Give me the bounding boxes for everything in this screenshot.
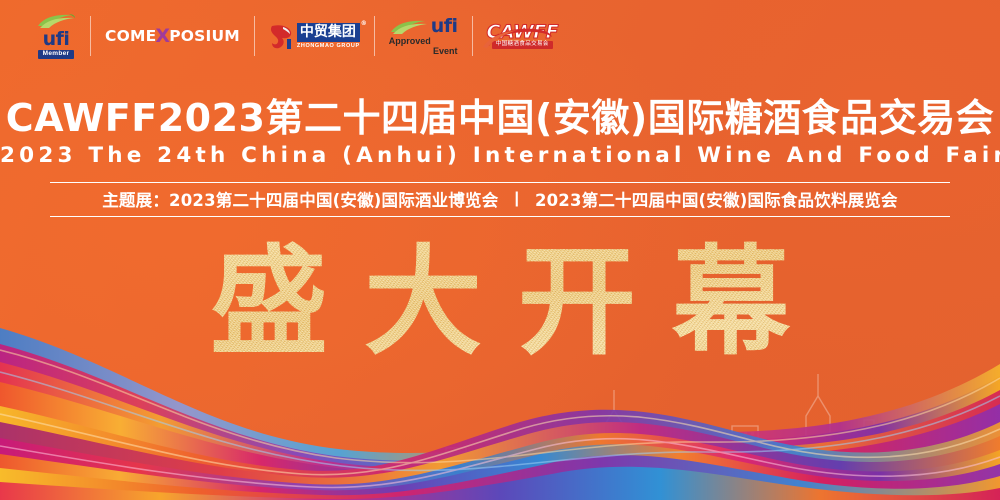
comexposium-part2: POSIUM (169, 27, 240, 45)
ufi-wing-icon (36, 13, 76, 29)
registered-icon: ® (361, 21, 367, 27)
theme-exhibition-2: 2023第二十四届中国(安徽)国际食品饮料展览会 (535, 187, 898, 211)
ufi-approved-line2: Approved (389, 37, 431, 46)
ufi-approved-line3: Event (433, 47, 458, 56)
ufi-member-wordmark: ufi (43, 30, 70, 49)
zhongmao-dragon-icon (269, 23, 294, 50)
event-title-cn: CAWFF2023第二十四届中国(安徽)国际糖酒食品交易会 (0, 96, 1000, 140)
theme-separator: | (514, 190, 518, 208)
zhongmao-en-name: ZHONGMAO GROUP (297, 44, 360, 50)
ufi-approved-wing-icon (389, 19, 429, 35)
theme-exhibitions-bar: 主题展：2023第二十四届中国(安徽)国际酒业博览会 | 2023第二十四届中国… (50, 182, 950, 217)
zhongmao-group-logo: 中贸集团 ® ZHONGMAO GROUP (255, 8, 374, 64)
comexposium-logo: COMEXPOSIUM (91, 8, 254, 64)
logo-bar: ufi Member COMEXPOSIUM 中贸集团 (22, 8, 572, 64)
ufi-member-logo: ufi Member (22, 8, 90, 64)
comexposium-x-accent: X (155, 25, 170, 47)
theme-exhibition-1: 主题展：2023第二十四届中国(安徽)国际酒业博览会 (102, 187, 498, 211)
zhongmao-cn-text: 中贸集团 (300, 24, 356, 40)
headline-block: CAWFF2023第二十四届中国(安徽)国际糖酒食品交易会 2023 The 2… (0, 96, 1000, 170)
cawff-swoosh-icon (483, 27, 553, 49)
comexposium-part1: COME (105, 27, 156, 45)
cawff-logo: CAWFF 中国糖酒食品交易会 (473, 8, 573, 64)
ufi-approved-wordmark: ufi (431, 17, 458, 36)
grand-opening-slogan: 盛大开幕 (0, 232, 1000, 372)
event-banner: ufi Member COMEXPOSIUM 中贸集团 (0, 0, 1000, 500)
ufi-approved-event-logo: ufi Approved Event (375, 8, 472, 64)
event-title-en: 2023 The 24th China (Anhui) Internationa… (0, 142, 1000, 170)
ufi-member-badge: Member (38, 50, 75, 59)
zhongmao-cn-name: 中贸集团 ® (297, 23, 360, 42)
